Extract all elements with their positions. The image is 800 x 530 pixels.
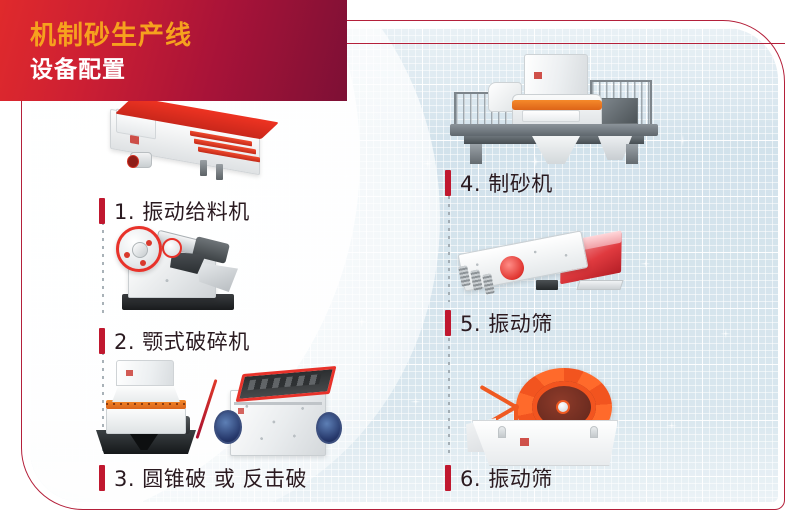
machine-image-impact-crusher (212, 368, 340, 460)
marker-bar-icon (99, 198, 105, 224)
machine-image-jaw-crusher (110, 222, 250, 317)
item-label-text: 5. 振动筛 (460, 308, 553, 338)
marker-bar-icon (445, 170, 451, 196)
banner-title: 机制砂生产线 (30, 22, 192, 48)
connector-dots-right-2 (448, 338, 450, 456)
item-label-1[interactable]: 1. 振动给料机 (99, 196, 250, 226)
machine-image-vibrating-screen (452, 232, 628, 306)
machine-image-vsi-sand-maker (450, 52, 658, 168)
connector-dots-right-1 (448, 196, 450, 302)
item-label-5[interactable]: 5. 振动筛 (445, 308, 553, 338)
item-label-4[interactable]: 4. 制砂机 (445, 168, 553, 198)
banner-subtitle: 设备配置 (30, 58, 126, 81)
marker-bar-icon (99, 465, 105, 491)
item-label-text: 1. 振动给料机 (114, 196, 250, 226)
item-label-6[interactable]: 6. 振动筛 (445, 463, 553, 493)
marker-bar-icon (445, 465, 451, 491)
machine-image-vibrating-feeder (104, 102, 284, 182)
machine-image-wheel-sand-washer (468, 368, 636, 472)
item-label-text: 4. 制砂机 (460, 168, 553, 198)
item-label-3[interactable]: 3. 圆锥破 或 反击破 (99, 463, 307, 493)
item-label-2[interactable]: 2. 颚式破碎机 (99, 326, 250, 356)
item-label-text: 3. 圆锥破 或 反击破 (114, 463, 307, 493)
marker-bar-icon (99, 328, 105, 354)
machine-image-cone-crusher (92, 358, 204, 458)
connector-dots-left-1 (102, 222, 104, 314)
marker-bar-icon (445, 310, 451, 336)
header-banner: 机制砂生产线 设备配置 (0, 0, 347, 101)
item-label-text: 2. 颚式破碎机 (114, 326, 250, 356)
banner-rule (347, 43, 785, 44)
item-label-text: 6. 振动筛 (460, 463, 553, 493)
infographic-canvas: 1. 振动给料机 2. 颚式破碎机 3. 圆锥破 或 反击破 4. 制砂机 5.… (0, 0, 800, 530)
